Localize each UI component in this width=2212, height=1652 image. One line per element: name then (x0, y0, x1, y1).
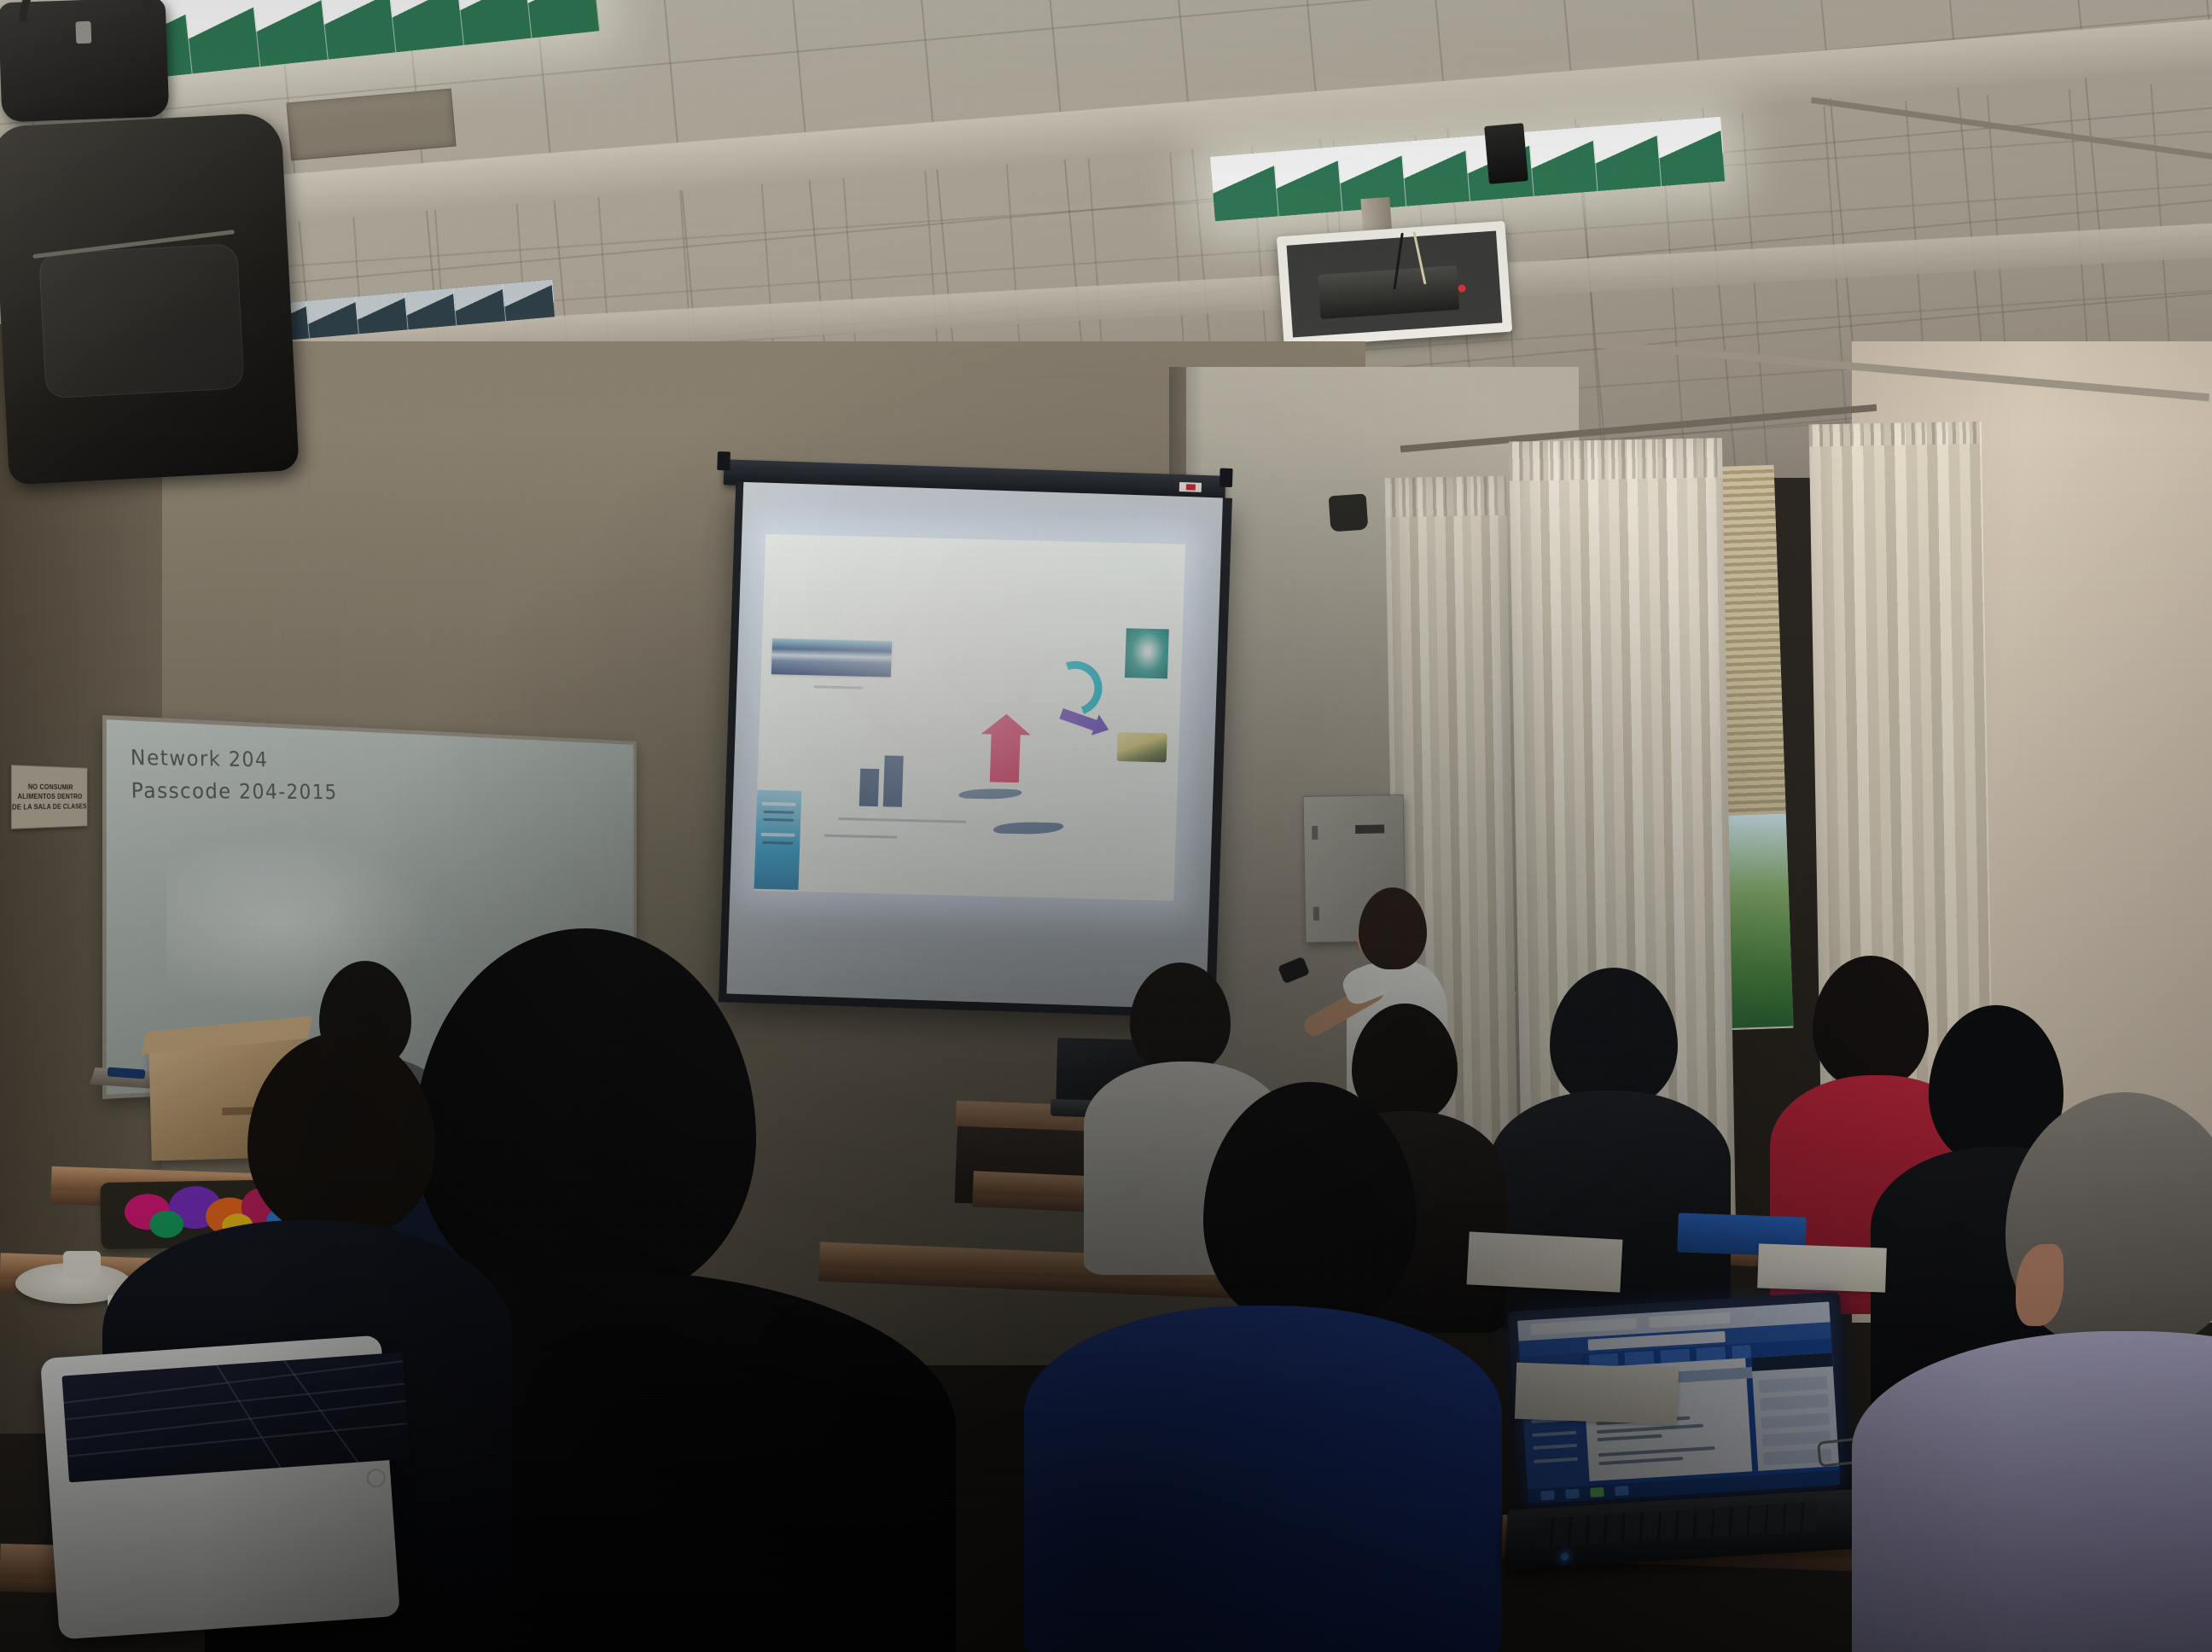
no-food-sign: NO CONSUMIR ALIMENTOS DENTRO DE LA SALA … (11, 765, 88, 829)
whiteboard-network-line: Network 204 (130, 742, 337, 777)
slide-red-up-arrow-icon (990, 732, 1021, 782)
audience-gray-haired-man-lavender (1920, 1092, 2212, 1652)
slide-caption-line-3 (813, 685, 863, 689)
projected-slide (754, 534, 1185, 901)
slide-fish-silhouette-upper (958, 788, 1022, 800)
wall-speaker (1329, 494, 1369, 532)
slide-bar-2 (883, 755, 904, 807)
slide-caption-line-1 (838, 817, 966, 823)
slide-logo-block (754, 790, 801, 890)
classroom-photo-scene: NO CONSUMIR ALIMENTOS DENTRO DE LA SALA … (0, 0, 2212, 1652)
papers-front-right-desk (1515, 1363, 1679, 1425)
no-food-sign-text: NO CONSUMIR ALIMENTOS DENTRO DE LA SALA … (12, 782, 87, 812)
audience-royal-blue-top (1024, 1082, 1502, 1560)
ipad-home-button[interactable] (366, 1468, 386, 1487)
ipad-tablet[interactable] (40, 1335, 400, 1639)
slide-teal-organism-image (1125, 628, 1169, 678)
ceiling-speaker (1484, 123, 1528, 184)
papers-far-right-desk (1757, 1243, 1887, 1292)
whiteboard-writing: Network 204 Passcode 204-2015 (130, 742, 337, 808)
black-handbag (0, 0, 169, 122)
slide-bar-1 (859, 769, 879, 807)
ipad-screen[interactable] (61, 1352, 410, 1483)
whiteboard-passcode-line: Passcode 204-2015 (131, 775, 338, 808)
slide-yellow-specimen-image (1117, 732, 1167, 762)
laptop-power-led (1561, 1553, 1569, 1562)
slide-ocean-photo-strip (771, 638, 892, 677)
black-backpack (0, 112, 300, 485)
presenter-hair (1359, 887, 1427, 969)
ceiling-projector (1277, 221, 1512, 347)
laptop-keyboard[interactable] (1534, 1502, 1817, 1548)
slide-caption-line-2 (824, 835, 898, 839)
slide-fish-silhouette-lower (993, 821, 1063, 835)
